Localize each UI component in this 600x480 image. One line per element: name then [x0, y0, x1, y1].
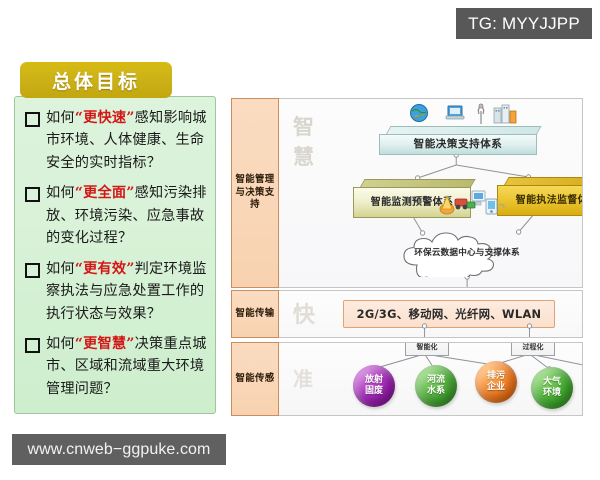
list-item: 如何“更全面”感知污染排放、环境污染、应急事故的变化过程？: [23, 182, 207, 249]
list-item: 如何“更智慧”决策重点城市、区域和流域重大环境管理问题？: [23, 333, 207, 400]
layer-intelligent-sensing: 智能传感 准 仪表 智能化 管理 过程化: [231, 342, 583, 416]
sphere-label-line1: 大气: [543, 377, 561, 388]
sensor-sphere-atmosphere: 大气 环境: [531, 367, 573, 409]
enforcement-supervision-box: 智能执法监督体系: [497, 177, 583, 216]
ghost-char-hui: 慧: [293, 141, 314, 171]
cloud-label: 环保云数据中心与支撑体系: [387, 246, 547, 258]
node-management-process: 管理 过程化: [511, 342, 555, 356]
site-watermark-badge: www.cnweb−ggpuke.com: [12, 434, 226, 465]
ghost-char-zhi: 智: [293, 111, 314, 141]
globe-icon: [409, 103, 429, 123]
sphere-label-line2: 环境: [543, 388, 561, 399]
layer-body-sensing: 准 仪表 智能化 管理 过程化 放射: [279, 342, 583, 416]
tg-watermark-badge: TG: MYYJJPP: [456, 8, 592, 39]
bullet-text: 如何“更快速”感知影响城市环境、人体健康、生命安全的实时指标？: [46, 107, 207, 174]
sphere-label-line2: 企业: [487, 382, 505, 393]
node-instrument-intelligence: 仪表 智能化: [405, 342, 449, 356]
checkbox-bullet-icon: [25, 338, 40, 353]
cloud-data-center: 环保云数据中心与支撑体系: [387, 227, 547, 277]
checkbox-bullet-icon: [25, 263, 40, 278]
layer-label-management: 智能管理与决策支持: [231, 98, 279, 288]
ghost-char-kuai: 快: [293, 297, 315, 329]
list-item: 如何“更快速”感知影响城市环境、人体健康、生命安全的实时指标？: [23, 107, 207, 174]
node-instrument-line2: 智能化: [417, 343, 438, 352]
decision-box-label: 智能决策支持体系: [379, 134, 537, 155]
buildings-icon: [493, 104, 517, 124]
bullet-text: 如何“更全面”感知污染排放、环境污染、应急事故的变化过程？: [46, 182, 207, 249]
architecture-diagram: 智能管理与决策支持 智 慧: [231, 98, 583, 416]
checkbox-bullet-icon: [25, 187, 40, 202]
monitoring-box-top-face: [360, 179, 476, 187]
sphere-label-line1: 河流: [427, 375, 445, 386]
sensor-sphere-radiation-waste: 放射 固废: [353, 365, 395, 407]
sphere-label-line2: 固废: [365, 386, 383, 397]
decision-box-top-face: [386, 126, 542, 134]
overall-goal-title: 总体目标: [20, 62, 172, 98]
antenna-icon: [473, 103, 489, 125]
ghost-char-zhun: 准: [293, 363, 313, 392]
layer-label-sensing: 智能传感: [231, 342, 279, 416]
layer-label-transport: 智能传输: [231, 290, 279, 338]
layer-body-management: 智 慧: [279, 98, 583, 288]
laptop-icon: [445, 105, 465, 122]
sensor-sphere-polluting-enterprise: 排污 企业: [475, 361, 517, 403]
bullet-text: 如何“更有效”判定环境监察执法与应急处置工作的执行状态与效果？: [46, 258, 207, 325]
enforcement-device-icon: [471, 185, 505, 219]
bullet-text: 如何“更智慧”决策重点城市、区域和流域重大环境管理问题？: [46, 333, 207, 400]
checkbox-bullet-icon: [25, 112, 40, 127]
enforcement-box-top-face: [504, 177, 583, 185]
decorative-icon-group: [407, 103, 527, 127]
layer-intelligent-management: 智能管理与决策支持 智 慧: [231, 98, 583, 288]
sphere-label-line2: 水系: [427, 386, 445, 397]
goal-question-list: 如何“更快速”感知影响城市环境、人体健康、生命安全的实时指标？ 如何“更全面”感…: [14, 96, 216, 414]
layer-intelligent-transport: 智能传输 快 2G/3G、移动网、光纤网、WLAN: [231, 290, 583, 338]
sphere-label-line1: 排污: [487, 371, 505, 382]
list-item: 如何“更有效”判定环境监察执法与应急处置工作的执行状态与效果？: [23, 258, 207, 325]
network-technologies-bar: 2G/3G、移动网、光纤网、WLAN: [343, 300, 555, 328]
node-management-line2: 过程化: [523, 343, 544, 352]
sensor-sphere-river-water: 河流 水系: [415, 365, 457, 407]
layer-body-transport: 快 2G/3G、移动网、光纤网、WLAN: [279, 290, 583, 338]
sphere-label-line1: 放射: [365, 375, 383, 386]
enforcement-box-label: 智能执法监督体系: [497, 185, 583, 216]
decision-support-box: 智能决策支持体系: [379, 126, 537, 155]
